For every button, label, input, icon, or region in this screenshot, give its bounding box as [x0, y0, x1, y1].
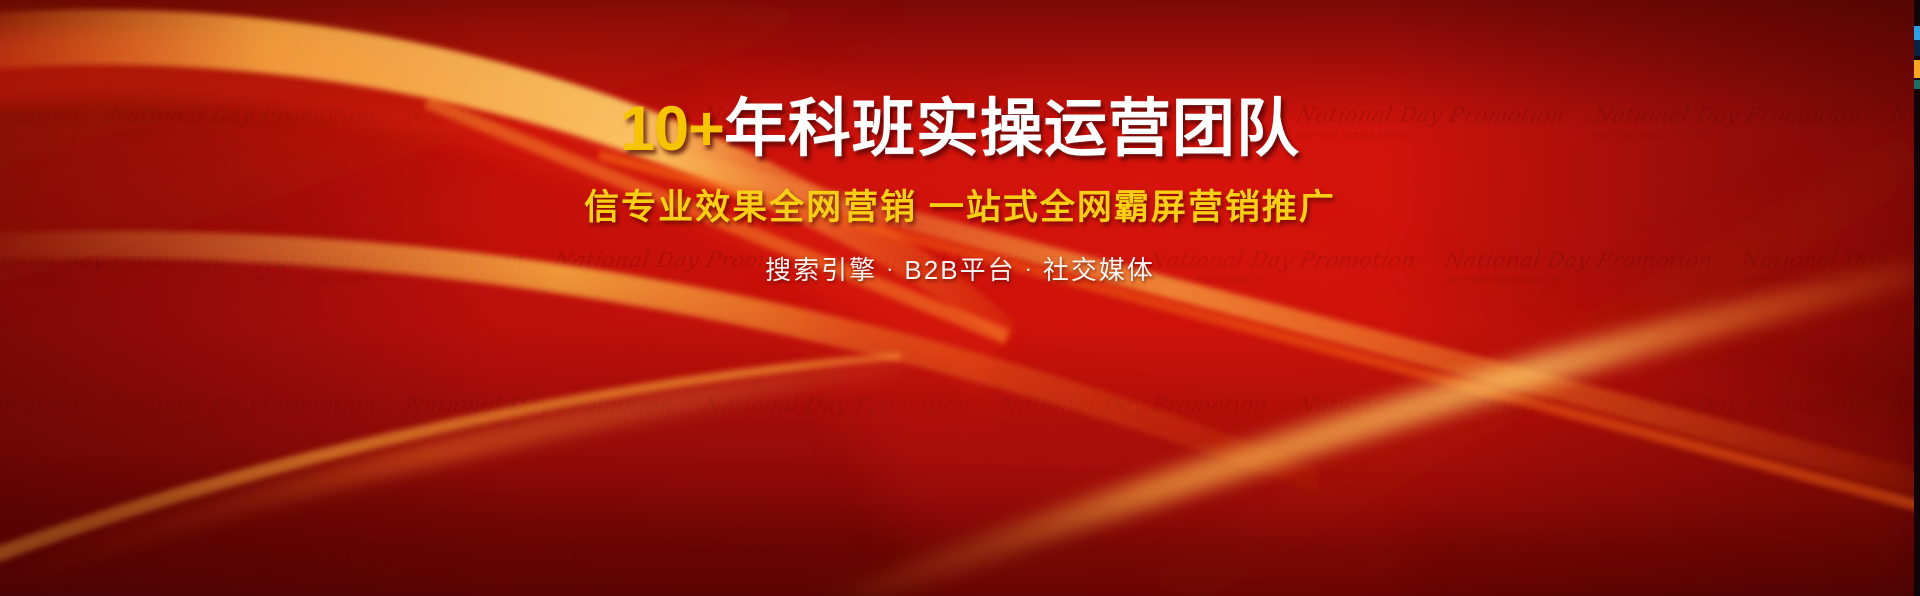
- tagline-item-social-media: 社交媒体: [1043, 255, 1155, 285]
- teal-mark: [1914, 80, 1920, 89]
- headline-text: 年科班实操运营团队: [724, 94, 1300, 164]
- orange-mark: [1914, 60, 1920, 78]
- tagline-item-b2b: B2B平台: [904, 255, 1015, 285]
- banner-text-block: 10+年科班实操运营团队 信专业效果全网营销 一站式全网霸屏营销推广 搜索引擎·…: [0, 96, 1920, 287]
- headline-number: 10+: [620, 94, 724, 164]
- background-vignette: [0, 0, 1920, 596]
- promo-banner: National Day Promotion国庆节促销 欢度国庆举国同庆Nati…: [0, 0, 1920, 596]
- tagline-separator: ·: [1016, 256, 1043, 281]
- tagline-separator: ·: [877, 256, 904, 281]
- navy-mark: [1914, 40, 1920, 56]
- subheadline: 信专业效果全网营销 一站式全网霸屏营销推广: [0, 179, 1920, 230]
- tagline: 搜索引擎·B2B平台·社交媒体: [0, 250, 1920, 287]
- tagline-item-search-engine: 搜索引擎: [765, 255, 877, 285]
- blue-mark: [1914, 26, 1920, 40]
- right-edge-strip: [1914, 0, 1920, 596]
- headline: 10+年科班实操运营团队: [0, 96, 1920, 163]
